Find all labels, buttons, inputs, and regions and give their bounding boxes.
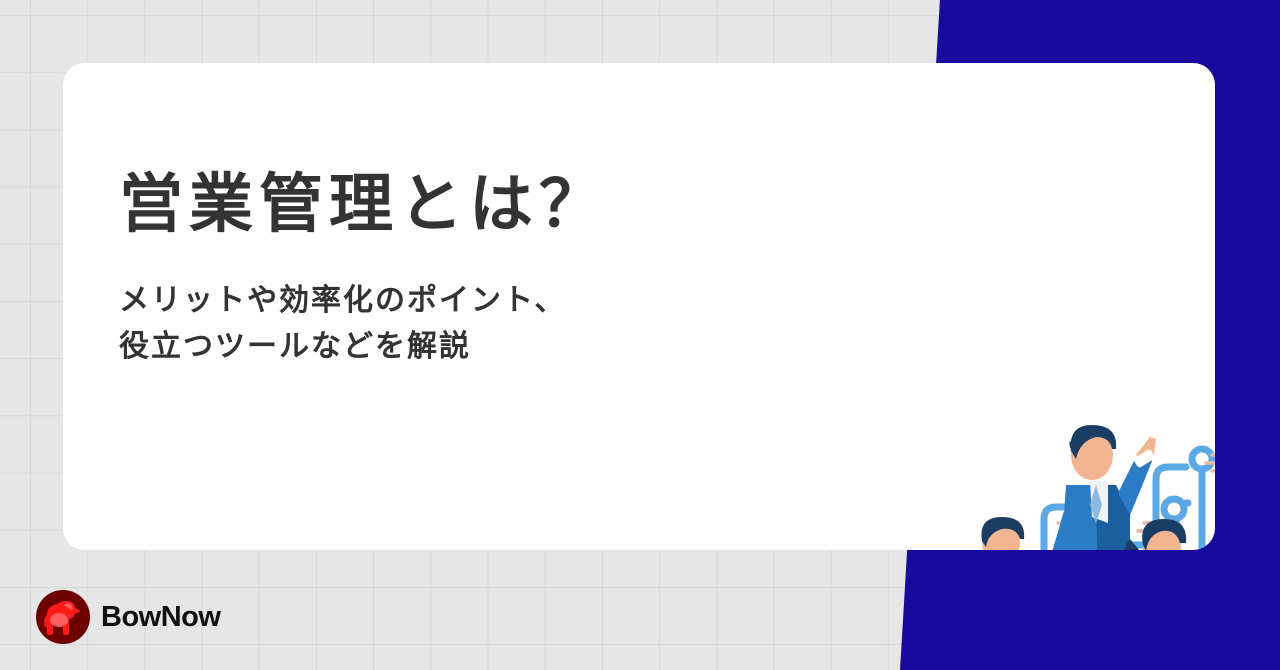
content-card: 営業管理とは？ メリットや効率化のポイント、 役立つツールなどを解説	[63, 63, 1215, 550]
page-subtitle: メリットや効率化のポイント、 役立つツールなどを解説	[119, 278, 609, 371]
column-label: COLUMN	[1208, 0, 1280, 6]
bownow-logo-text: BowNow	[101, 601, 220, 634]
paper-marks-icon	[916, 455, 1215, 550]
business-team-illustration	[868, 393, 1215, 550]
bownow-dog-logo-icon	[36, 590, 90, 644]
seated-woman-figure	[1124, 519, 1215, 550]
flowchart-nodes-icon	[931, 449, 1215, 550]
page-title: 営業管理とは？	[119, 168, 609, 242]
bownow-logo[interactable]: BowNow	[36, 590, 220, 644]
standing-man-figure	[1050, 425, 1156, 550]
seated-man-figure	[922, 517, 1030, 550]
card-text-block: 営業管理とは？ メリットや効率化のポイント、 役立つツールなどを解説	[119, 168, 609, 371]
flowchart-lines-icon	[946, 467, 1215, 550]
